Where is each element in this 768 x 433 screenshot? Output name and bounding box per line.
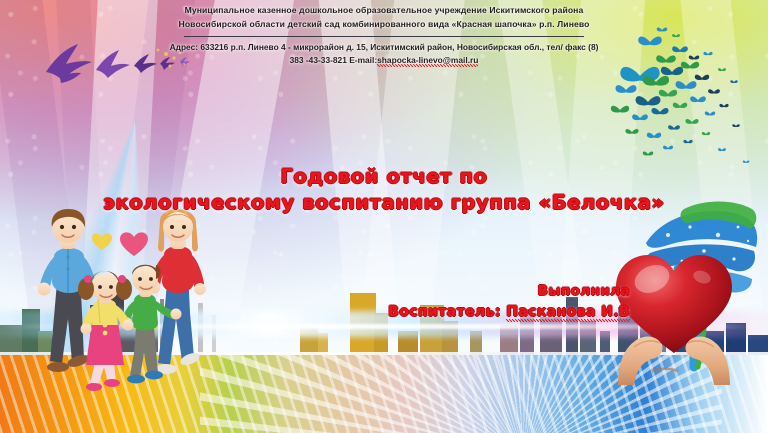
author-line: Воспитатель: Пасканова И.В — [388, 301, 630, 323]
header-divider — [184, 36, 584, 37]
org-line-1: Муниципальное казенное дошкольное образо… — [0, 4, 768, 18]
org-line-2: Новосибирской области детский сад комбин… — [0, 18, 768, 32]
address-line-1: Адрес: 633216 р.п. Линево 4 - микрорайон… — [0, 41, 768, 54]
author-block: Выполнила Воспитатель: Пасканова И.В — [388, 282, 630, 323]
family-illustration — [6, 201, 234, 397]
address-line-2: 383 -43-33-821 E-mail:shapocka-linevo@ma… — [0, 54, 768, 67]
prepared-by-label: Выполнила — [388, 282, 630, 301]
author-role-label: Воспитатель: — [388, 304, 501, 320]
family-girl — [78, 271, 134, 391]
author-name: Пасканова И.В — [506, 304, 630, 322]
family-mother — [148, 209, 207, 374]
email-link[interactable]: shapocka-linevo@mail.ru — [377, 55, 478, 67]
title-line-1: Годовой отчет по — [0, 164, 768, 189]
title-line-2: экологическому воспитанию группа «Белочк… — [0, 189, 768, 216]
header-block: Муниципальное казенное дошкольное образо… — [0, 4, 768, 67]
page-title: Годовой отчет по экологическому воспитан… — [0, 164, 768, 216]
presentation-slide: Муниципальное казенное дошкольное образо… — [0, 0, 768, 433]
email-label: E-mail: — [349, 55, 377, 65]
phone-number: 383 -43-33-821 — [290, 55, 350, 65]
